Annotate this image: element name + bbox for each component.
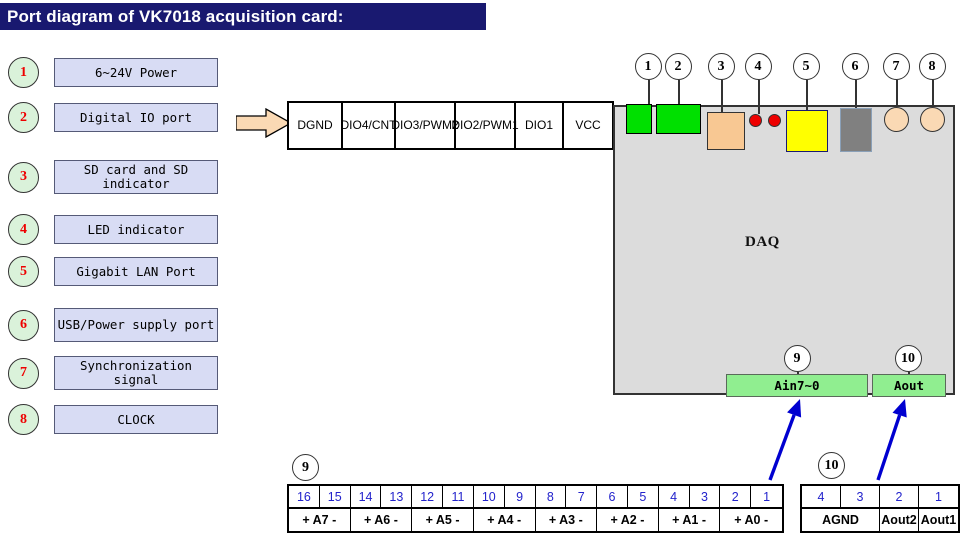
analog-output-connector[interactable]: Aout <box>872 374 946 397</box>
arrow-shaft-0 <box>770 415 794 480</box>
board-component-4a[interactable] <box>749 114 762 127</box>
callout-marker-9[interactable]: 9 <box>784 345 811 372</box>
pintable-marker-10[interactable]: 10 <box>818 452 845 479</box>
board-component-8[interactable] <box>920 107 945 132</box>
board-component-4b[interactable] <box>768 114 781 127</box>
callout-marker-2[interactable]: 2 <box>665 53 692 80</box>
board-component-1[interactable] <box>626 104 652 134</box>
board-component-2[interactable] <box>656 104 701 134</box>
callout-marker-7[interactable]: 7 <box>883 53 910 80</box>
board-component-6[interactable] <box>840 108 872 152</box>
arrow-shaft-1 <box>878 415 900 480</box>
callout-marker-1[interactable]: 1 <box>635 53 662 80</box>
board-component-3[interactable] <box>707 112 745 150</box>
arrow-head-0 <box>787 399 801 418</box>
board-component-5[interactable] <box>786 110 828 152</box>
analog-input-connector[interactable]: Ain7~0 <box>726 374 868 397</box>
callout-marker-5[interactable]: 5 <box>793 53 820 80</box>
callout-marker-10[interactable]: 10 <box>895 345 922 372</box>
callout-marker-4[interactable]: 4 <box>745 53 772 80</box>
pintable-marker-9[interactable]: 9 <box>292 454 319 481</box>
board-component-7[interactable] <box>884 107 909 132</box>
callout-marker-8[interactable]: 8 <box>919 53 946 80</box>
callout-marker-3[interactable]: 3 <box>708 53 735 80</box>
arrow-head-1 <box>893 399 907 417</box>
callout-marker-6[interactable]: 6 <box>842 53 869 80</box>
